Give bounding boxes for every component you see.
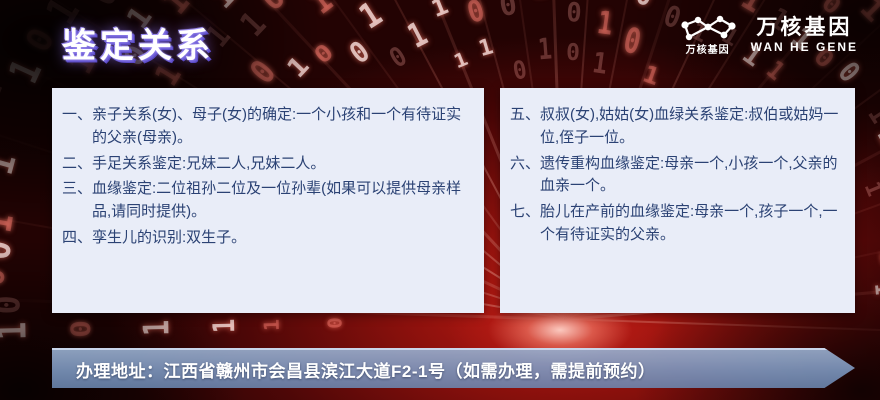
list-item-number: 四、 — [62, 227, 92, 250]
brand-mark: 万核基因 — [677, 14, 739, 56]
list-item: 一、 亲子关系(女)、母子(女)的确定:一个小孩和一个有待证实的父亲(母亲)。 — [62, 104, 472, 150]
list-item: 六、 遗传重构血缘鉴定:母亲一个,小孩一个,父亲的血亲一个。 — [510, 153, 843, 199]
list-item-number: 六、 — [510, 153, 540, 176]
list-item-text: 胎儿在产前的血缘鉴定:母亲一个,孩子一个,一个有待证实的父亲。 — [540, 201, 843, 247]
list-item-text: 亲子关系(女)、母子(女)的确定:一个小孩和一个有待证实的父亲(母亲)。 — [92, 104, 472, 150]
brand-name-en: WAN HE GENE — [751, 41, 858, 53]
list-item: 二、 手足关系鉴定:兄妹二人,兄妹二人。 — [62, 153, 472, 176]
list-item-number: 三、 — [62, 178, 92, 201]
brand-name-cn: 万核基因 — [756, 17, 852, 39]
list-item-text: 孪生儿的识别:双生子。 — [92, 227, 472, 250]
page-title: 鉴定关系 — [62, 18, 214, 67]
list-item-text: 遗传重构血缘鉴定:母亲一个,小孩一个,父亲的血亲一个。 — [540, 153, 843, 199]
relationship-list-panel-right: 五、 叔叔(女),姑姑(女)血绿关系鉴定:叔伯或姑妈一位,侄子一位。 六、 遗传… — [500, 88, 855, 313]
molecule-node-icon — [677, 14, 739, 44]
list-item: 七、 胎儿在产前的血缘鉴定:母亲一个,孩子一个,一个有待证实的父亲。 — [510, 201, 843, 247]
list-item: 五、 叔叔(女),姑姑(女)血绿关系鉴定:叔伯或姑妈一位,侄子一位。 — [510, 104, 843, 150]
brand-names: 万核基因 WAN HE GENE — [751, 17, 858, 53]
relationship-list-panel-left: 一、 亲子关系(女)、母子(女)的确定:一个小孩和一个有待证实的父亲(母亲)。 … — [52, 88, 484, 313]
list-item-text: 手足关系鉴定:兄妹二人,兄妹二人。 — [92, 153, 472, 176]
list-item-number: 二、 — [62, 153, 92, 176]
brand-mark-label: 万核基因 — [686, 46, 730, 56]
list-item-number: 一、 — [62, 104, 92, 127]
list-item-text: 血缘鉴定:二位祖孙二位及一位孙辈(如果可以提供母亲样品,请同时提供)。 — [92, 178, 472, 224]
list-item: 四、 孪生儿的识别:双生子。 — [62, 227, 472, 250]
list-item: 三、 血缘鉴定:二位祖孙二位及一位孙辈(如果可以提供母亲样品,请同时提供)。 — [62, 178, 472, 224]
list-item-text: 叔叔(女),姑姑(女)血绿关系鉴定:叔伯或姑妈一位,侄子一位。 — [540, 104, 843, 150]
address-text: 办理地址：江西省赣州市会昌县滨江大道F2-1号（如需办理，需提前预约） — [52, 357, 655, 382]
list-item-number: 七、 — [510, 201, 540, 224]
address-banner: 办理地址：江西省赣州市会昌县滨江大道F2-1号（如需办理，需提前预约） — [52, 348, 855, 388]
brand-logo: 万核基因 万核基因 WAN HE GENE — [677, 14, 858, 56]
list-item-number: 五、 — [510, 104, 540, 127]
slide-root: 0111010001111111010101001111100010111111… — [0, 0, 880, 400]
